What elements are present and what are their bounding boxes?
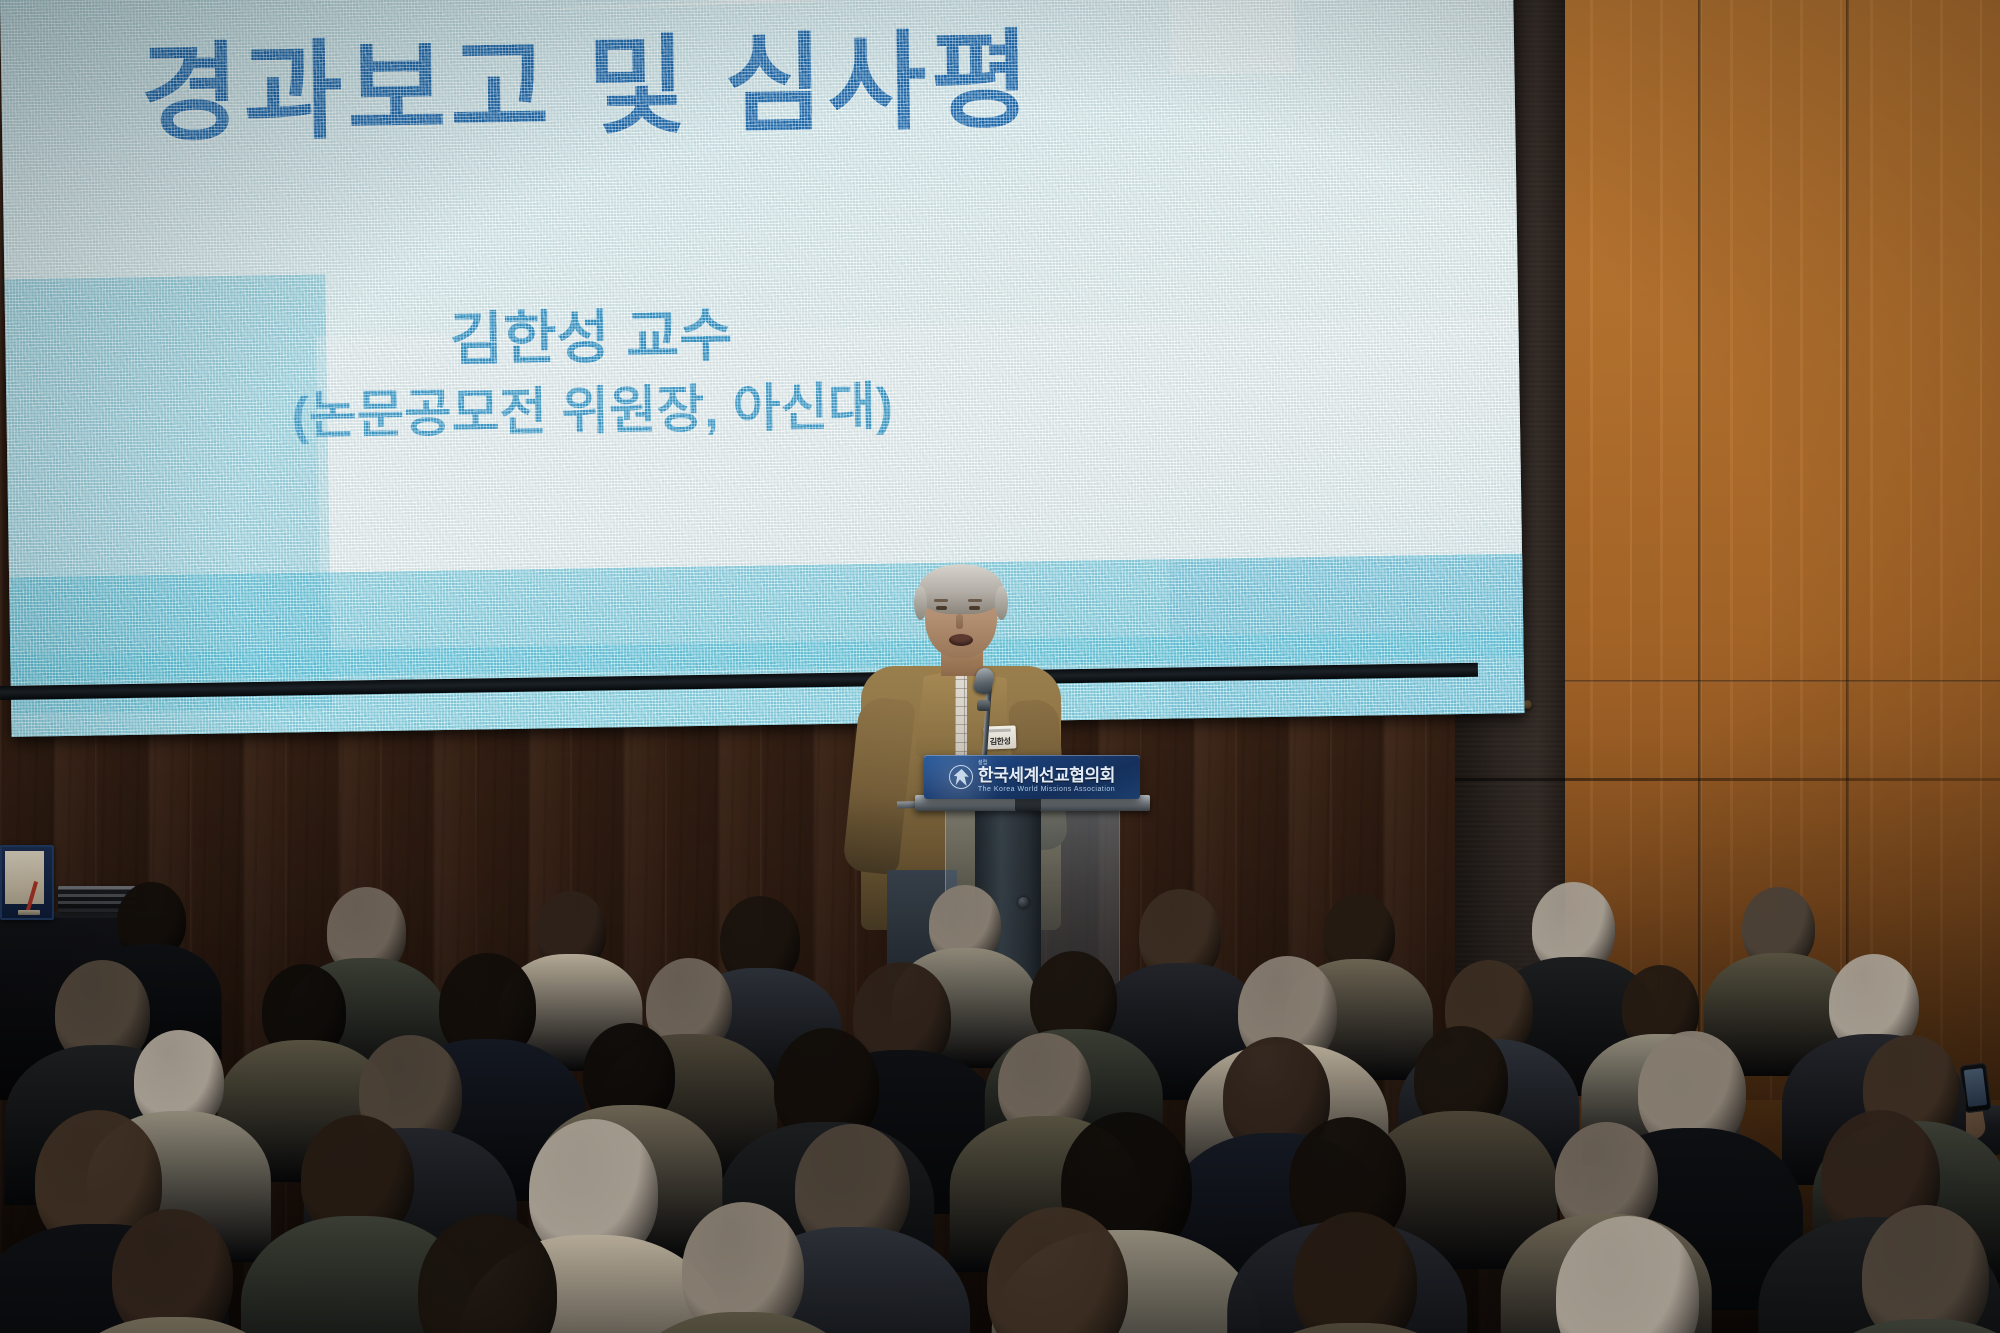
led-presentation-screen: 경과보고 및 심사평 김한성 교수 (논문공모전 위원장, 아신대) bbox=[0, 0, 1525, 737]
audience-member bbox=[529, 1119, 658, 1264]
wall-panel-seam bbox=[1455, 778, 2000, 781]
audience-member bbox=[583, 1023, 674, 1125]
audience-member bbox=[117, 882, 186, 959]
audience-member bbox=[1638, 1031, 1746, 1152]
audience-member bbox=[1742, 887, 1816, 969]
audience-member bbox=[55, 960, 150, 1066]
podium-organization-name-en: The Korea World Missions Association bbox=[978, 786, 1115, 793]
audience-member bbox=[1323, 894, 1395, 975]
audience-member bbox=[929, 885, 1000, 965]
audience-member bbox=[1139, 889, 1221, 981]
podium-sign-badge: 설립 bbox=[978, 761, 988, 766]
podium-device bbox=[1015, 797, 1041, 811]
podium-organization-sign: 설립 한국세계선교협의회 The Korea World Missions As… bbox=[924, 755, 1140, 799]
audience-member bbox=[682, 1202, 805, 1333]
audience-member bbox=[720, 896, 801, 986]
audience-member bbox=[1414, 1026, 1509, 1132]
audience-head bbox=[1862, 1205, 1989, 1333]
audience-member bbox=[112, 1209, 233, 1333]
audience-member bbox=[1532, 882, 1615, 975]
audience-member bbox=[998, 1033, 1091, 1137]
audience-head bbox=[112, 1209, 233, 1333]
audience-member bbox=[134, 1030, 224, 1131]
audience-member bbox=[536, 891, 606, 969]
slide-title: 경과보고 및 심사평 bbox=[0, 0, 1515, 165]
conference-photo-scene: 경과보고 및 심사평 김한성 교수 (논문공모전 위원장, 아신대) bbox=[0, 0, 2000, 1333]
audience-crowd bbox=[0, 880, 2000, 1333]
audience-member bbox=[1862, 1205, 1989, 1333]
audience-member bbox=[795, 1124, 910, 1253]
slide-text-block: 경과보고 및 심사평 김한성 교수 (논문공모전 위원장, 아신대) bbox=[0, 0, 1525, 737]
microphone-joint bbox=[977, 700, 990, 711]
speaker-hair bbox=[919, 564, 1003, 614]
audience-member bbox=[439, 953, 535, 1061]
audience-member bbox=[301, 1115, 414, 1242]
audience-member bbox=[327, 887, 406, 976]
podium-organization-name-ko: 한국세계선교협의회 bbox=[978, 767, 1115, 784]
globe-dove-emblem-icon bbox=[949, 765, 973, 789]
audience-member bbox=[262, 964, 346, 1058]
